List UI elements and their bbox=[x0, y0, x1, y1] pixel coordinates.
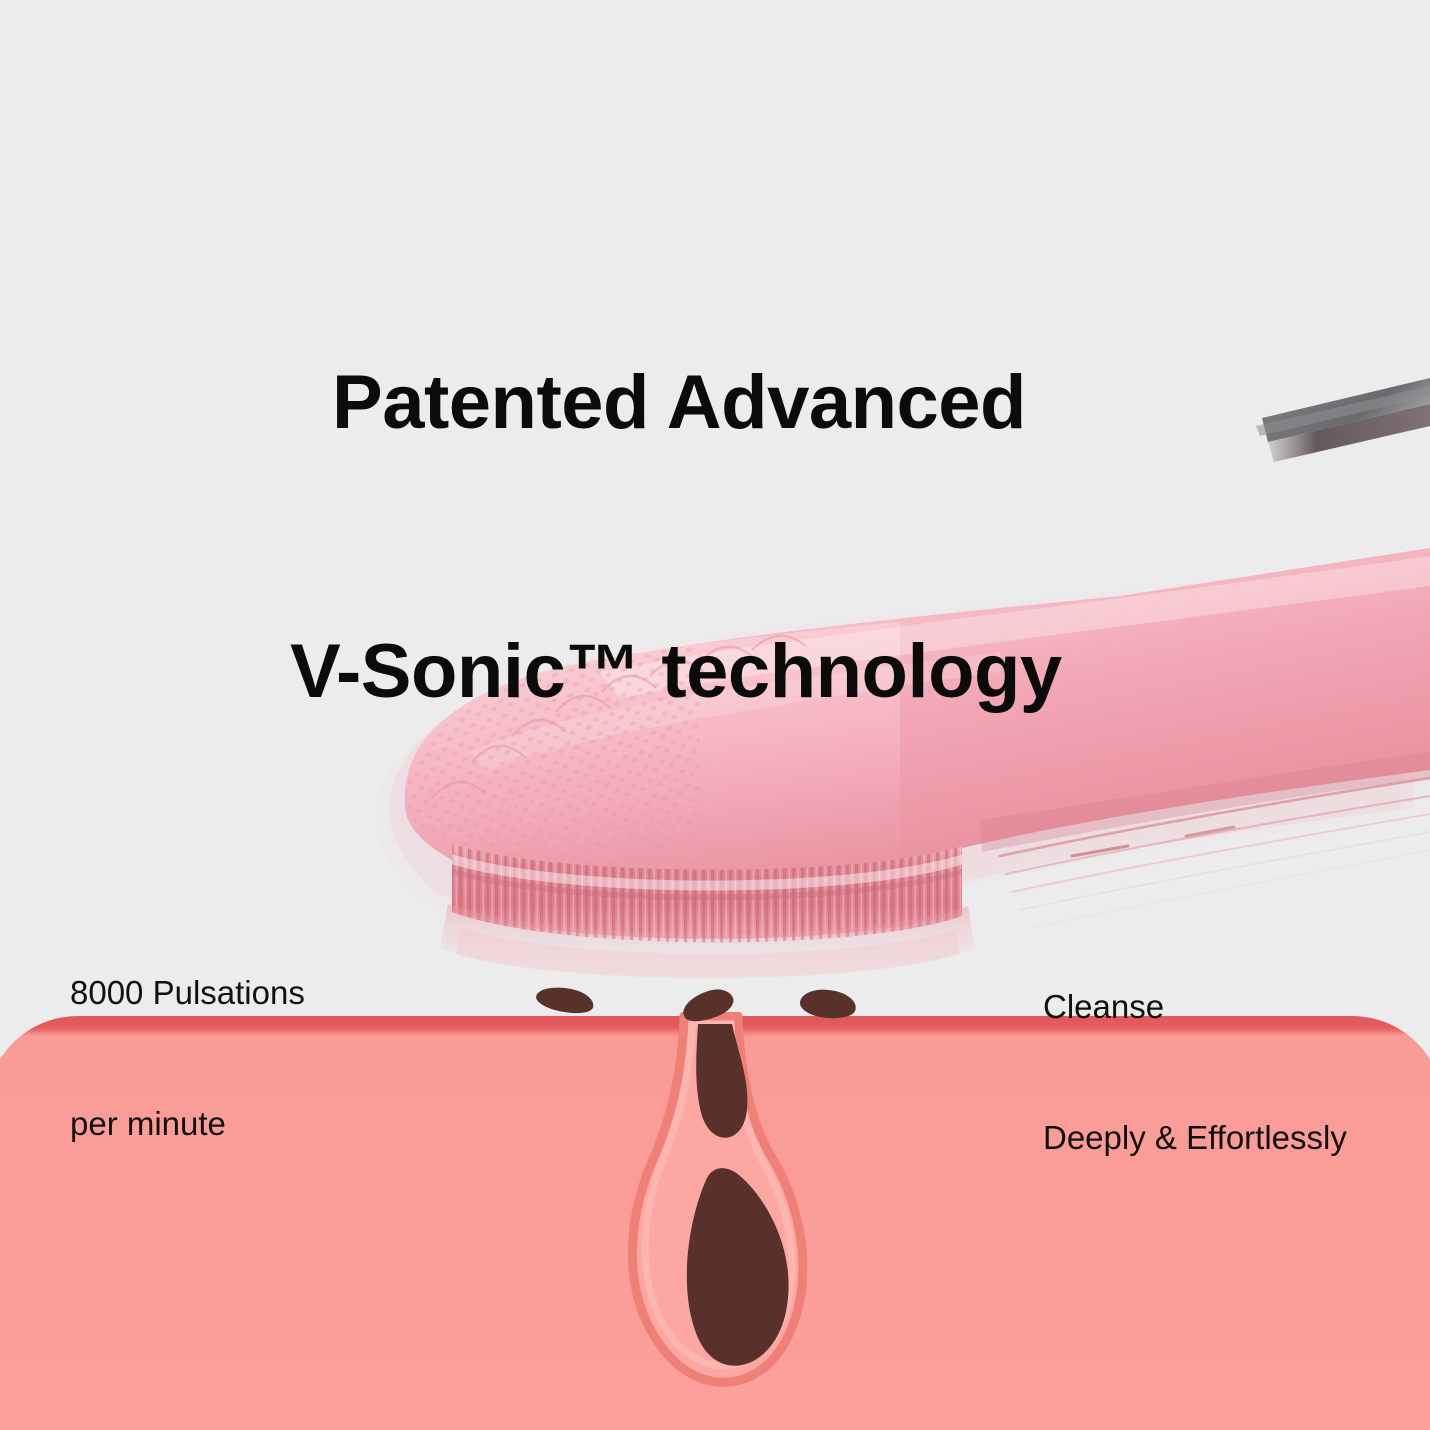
caption-left-line-1: 8000 Pulsations bbox=[70, 971, 305, 1015]
page-title: Patented Advanced V-Sonic™ technology bbox=[290, 179, 1190, 896]
pore-svg bbox=[560, 1012, 860, 1430]
handle-accent-strip bbox=[1256, 378, 1430, 462]
headline-line-2: V-Sonic™ technology bbox=[290, 627, 1190, 717]
caption-right-line-2: Deeply & Effortlessly bbox=[1043, 1116, 1347, 1160]
caption-right-line-1: Cleanse bbox=[1043, 985, 1347, 1029]
pore-illustration bbox=[560, 1012, 860, 1430]
headline-line-1: Patented Advanced bbox=[332, 358, 1190, 448]
caption-pulsations: 8000 Pulsations per minute bbox=[70, 884, 305, 1232]
caption-left-line-2: per minute bbox=[70, 1102, 305, 1146]
product-feature-graphic: Patented Advanced V-Sonic™ technology 80… bbox=[0, 0, 1430, 1430]
dirt-particle bbox=[534, 983, 596, 1018]
caption-cleanse: Cleanse Deeply & Effortlessly bbox=[1043, 898, 1347, 1246]
